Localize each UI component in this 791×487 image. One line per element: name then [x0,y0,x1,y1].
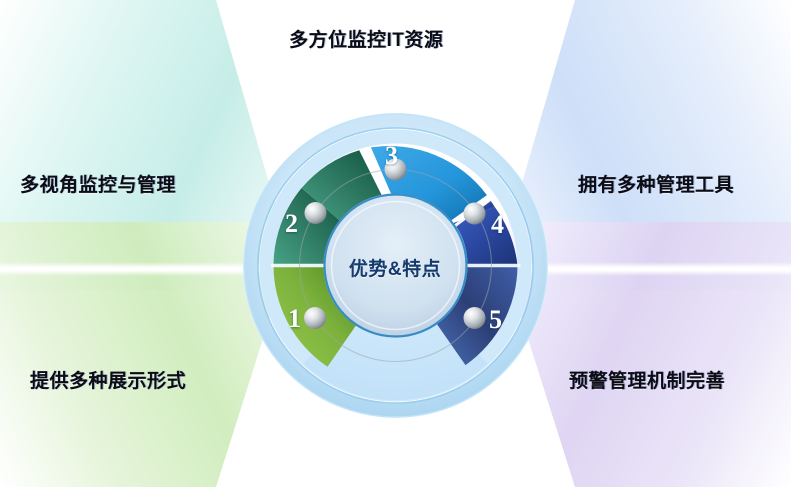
diagram-canvas: 1 2 3 4 5 优势&特点 多方位监控IT资源 多视角监控与管理 提供多种展… [0,0,791,487]
segment-number-5: 5 [489,307,502,333]
segment-number-3: 3 [385,143,398,169]
segment-number-1: 1 [288,306,301,332]
sphere-icon-4 [464,203,486,225]
label-segment-5: 预警管理机制完善 [569,366,725,393]
segment-number-2: 2 [285,211,298,237]
sphere-icon-1 [304,307,326,329]
center-title: 优势&特点 [331,254,459,281]
label-segment-4: 拥有多种管理工具 [578,170,734,197]
sphere-icon-2 [305,202,327,224]
label-segment-2: 多视角监控与管理 [20,170,176,197]
segment-number-4: 4 [491,212,504,238]
label-segment-3: 多方位监控IT资源 [289,25,443,52]
label-segment-1: 提供多种展示形式 [30,366,186,393]
sphere-icon-5 [464,307,486,329]
